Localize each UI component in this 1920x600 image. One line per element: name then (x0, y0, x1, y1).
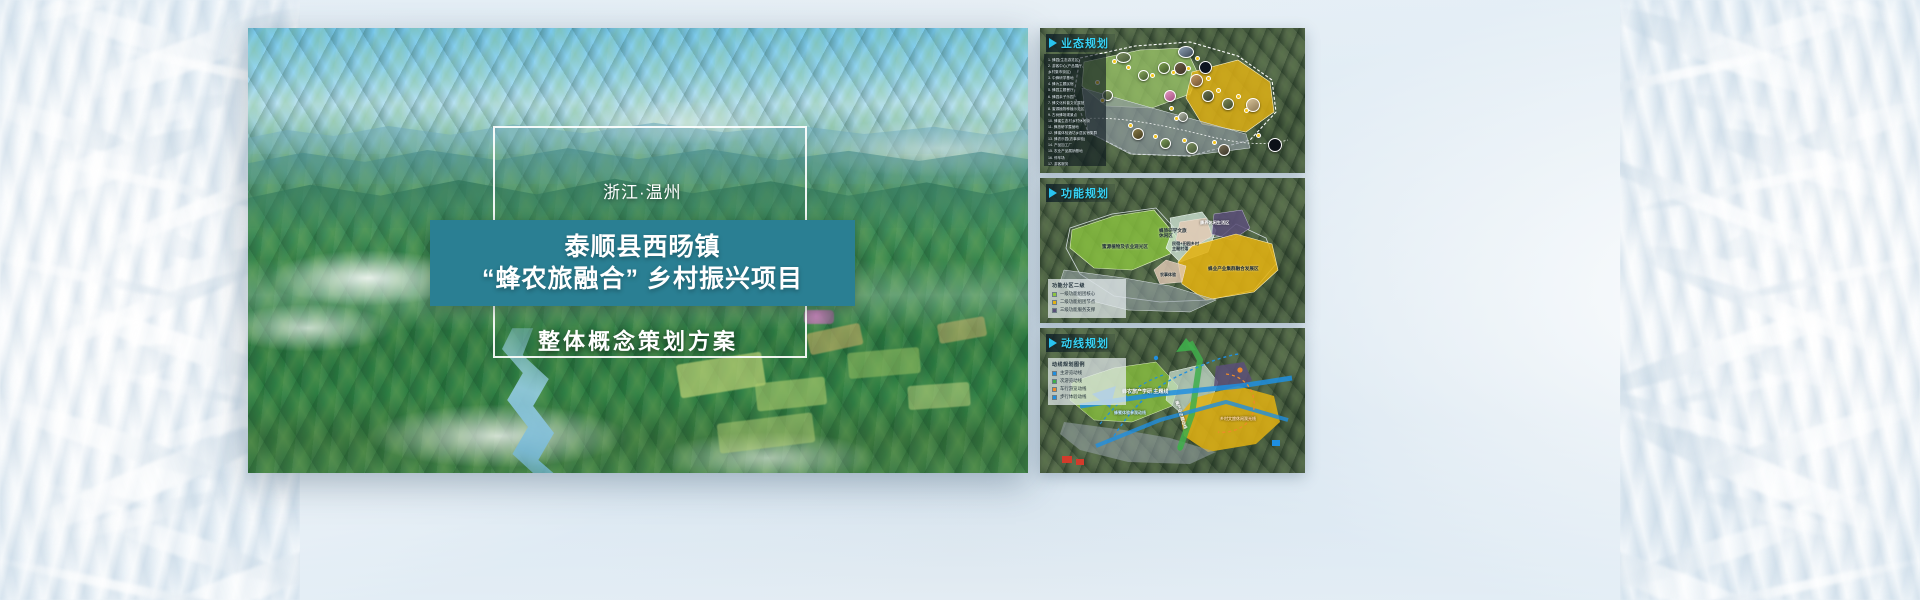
legend-item: 步行体验动线 (1052, 394, 1122, 400)
site-photo-marker[interactable] (1186, 142, 1198, 154)
legend-title: 动线规划图例 (1052, 361, 1122, 368)
legend-item-label: 一级功能组团核心 (1060, 291, 1095, 297)
subtitle-text: 整体概念策划方案 (538, 324, 738, 356)
hero-slide[interactable]: 浙江·温州 泰顺县西旸镇 “蜂农旅融合” 乡村振兴项目 整体概念策划方案 (248, 28, 1028, 473)
industry-plan-legend: 1. 蜂园(生态游览区)2. 游客中心(产品展厅、 乡村集市街区)3. 中蜂研学… (1044, 54, 1106, 166)
panel-tag-label: 功能规划 (1061, 185, 1109, 201)
legend-item-label: 步行体验动线 (1060, 394, 1086, 400)
legend-item: 17. 游客服务 (1048, 161, 1103, 166)
village-cluster (804, 310, 834, 324)
legend-item: 二级功能组团节点 (1052, 299, 1122, 305)
map-badge[interactable] (1206, 76, 1211, 81)
legend-item: 主游览动线 (1052, 370, 1122, 376)
map-badge[interactable] (1128, 123, 1133, 128)
site-photo-marker[interactable] (1199, 61, 1212, 74)
title-banner: 泰顺县西旸镇 “蜂农旅融合” 乡村振兴项目 (430, 220, 855, 306)
route-label: 蜂蜜体验参观动线 (1114, 410, 1146, 416)
zone-label: 民宿+田园乡村主题村落 (1172, 241, 1202, 252)
map-badge[interactable] (1212, 140, 1217, 145)
panel-tag-label: 动线规划 (1061, 335, 1109, 351)
panel-tag-circulation-plan: 动线规划 (1046, 334, 1115, 352)
site-photo-marker[interactable] (1268, 138, 1282, 152)
legend-item: 一级功能组团核心 (1052, 291, 1122, 297)
panel-function-plan[interactable]: 蜜源植物及农业观光区 蜂旅研学文旅休闲区 康养休闲生活区 民宿+田园乡村主题村落… (1040, 178, 1305, 323)
legend-item-label: 二级功能组团节点 (1060, 299, 1095, 305)
site-photo-marker[interactable] (1190, 74, 1203, 87)
legend-swatch (1052, 379, 1057, 384)
map-badge[interactable] (1112, 59, 1117, 64)
map-badge[interactable] (1126, 65, 1131, 70)
location-label: 浙江·温州 (603, 178, 682, 203)
site-photo-marker[interactable] (1218, 144, 1230, 156)
site-photo-marker[interactable] (1160, 138, 1171, 149)
legend-item-label: 车行游览动线 (1060, 386, 1086, 392)
zone-label: 蜂业产业集群融合发展区 (1208, 266, 1259, 272)
title-line-1: 泰顺县西旸镇 (564, 231, 720, 263)
zone-label: 蜜源植物及农业观光区 (1102, 244, 1148, 250)
map-badge[interactable] (1174, 116, 1179, 121)
zone-label: 蜂旅研学文旅休闲区 (1159, 228, 1189, 239)
zone-label: 农事体验 (1160, 272, 1176, 278)
map-badge[interactable] (1195, 56, 1200, 61)
legend-title: 功能分区二级 (1052, 282, 1122, 289)
function-plan-legend: 功能分区二级一级功能组团核心二级功能组团节点三级功能服务支撑 (1048, 279, 1126, 318)
legend-swatch (1052, 387, 1057, 392)
site-photo-marker[interactable] (1158, 62, 1170, 74)
legend-swatch (1052, 292, 1057, 297)
legend-item: 次游览动线 (1052, 378, 1122, 384)
panel-tag-label: 业态规划 (1061, 35, 1109, 51)
site-photo-marker[interactable] (1116, 52, 1131, 63)
site-photo-marker[interactable] (1164, 90, 1176, 102)
map-badge[interactable] (1169, 106, 1174, 111)
legend-swatch (1052, 308, 1057, 313)
silk-folds-right (1620, 0, 1920, 600)
site-photo-marker[interactable] (1178, 112, 1188, 122)
legend-item: 车行游览动线 (1052, 386, 1122, 392)
map-badge[interactable] (1182, 138, 1187, 143)
panel-industry-plan[interactable]: 1. 蜂园(生态游览区)2. 游客中心(产品展厅、 乡村集市街区)3. 中蜂研学… (1040, 28, 1305, 173)
legend-item: 三级功能服务支撑 (1052, 307, 1122, 313)
play-triangle-icon (1049, 188, 1057, 198)
map-panel-stack: 1. 蜂园(生态游览区)2. 游客中心(产品展厅、 乡村集市街区)3. 中蜂研学… (1040, 28, 1305, 473)
zone-label: 康养休闲生活区 (1200, 220, 1229, 226)
map-badge[interactable] (1150, 73, 1155, 78)
map-badge[interactable] (1256, 133, 1261, 138)
circulation-plan-legend: 动线规划图例主游览动线次游览动线车行游览动线步行体验动线 (1048, 358, 1126, 405)
site-photo-marker[interactable] (1222, 98, 1234, 110)
panel-tag-industry-plan: 业态规划 (1046, 34, 1115, 52)
panel-tag-function-plan: 功能规划 (1046, 184, 1115, 202)
site-photo-marker[interactable] (1132, 128, 1144, 140)
legend-item-label: 主游览动线 (1060, 370, 1082, 376)
legend-item-label: 次游览动线 (1060, 378, 1082, 384)
map-badge[interactable] (1244, 108, 1249, 113)
map-badge[interactable] (1153, 134, 1158, 139)
site-photo-marker[interactable] (1178, 46, 1194, 58)
play-triangle-icon (1049, 38, 1057, 48)
route-label: 蜂农旅产学研 主题线 (1122, 388, 1168, 395)
farm-field (907, 382, 971, 410)
map-badge[interactable] (1171, 70, 1176, 75)
legend-item-label: 三级功能服务支撑 (1060, 307, 1095, 313)
map-badge[interactable] (1186, 66, 1191, 71)
site-photo-marker[interactable] (1202, 90, 1214, 102)
site-photo-marker[interactable] (1138, 70, 1149, 81)
play-triangle-icon (1049, 338, 1057, 348)
legend-swatch (1052, 371, 1057, 376)
route-label: 乡村文旅休闲观光线 (1220, 416, 1256, 422)
title-line-2: “蜂农旅融合” 乡村振兴项目 (482, 263, 803, 295)
map-badge[interactable] (1236, 94, 1241, 99)
legend-swatch (1052, 395, 1057, 400)
panel-circulation-plan[interactable]: 蜂农旅产学研 主题线 蜂蜜体验参观动线 蜂产业主题动线 乡村文旅休闲观光线 动线… (1040, 328, 1305, 473)
map-badge[interactable] (1216, 88, 1221, 93)
legend-swatch (1052, 300, 1057, 305)
